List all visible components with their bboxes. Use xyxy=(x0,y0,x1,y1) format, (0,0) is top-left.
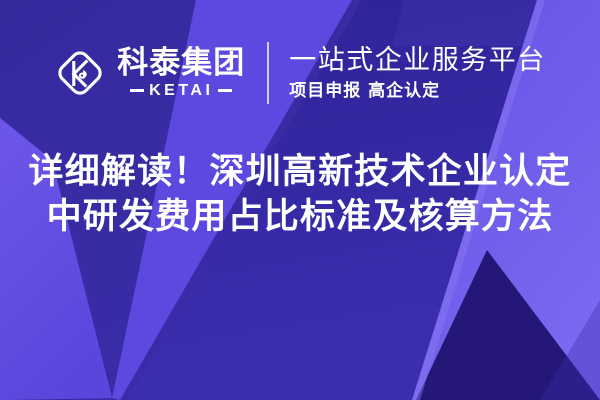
headline-line-2: 中研发费用占比标准及核算方法 xyxy=(0,195,600,240)
brand-lockup: 科泰集团 KETAI xyxy=(54,47,245,99)
ketai-logo-icon xyxy=(54,47,106,99)
brand-name-en-row: KETAI xyxy=(130,83,232,99)
tagline-main: 一站式企业服务平台 xyxy=(289,45,546,77)
headline-block: 详细解读！深圳高新技术企业认定 中研发费用占比标准及核算方法 xyxy=(0,150,600,240)
brand-wordmark: 科泰集团 KETAI xyxy=(117,48,245,99)
brand-name-cn: 科泰集团 xyxy=(117,48,245,79)
tagline-sub: 项目申报 高企认定 xyxy=(289,80,546,102)
headline-line-1: 详细解读！深圳高新技术企业认定 xyxy=(0,150,600,195)
dash-left-icon xyxy=(130,89,144,92)
brand-name-en: KETAI xyxy=(149,83,213,99)
tagline-block: 一站式企业服务平台 项目申报 高企认定 xyxy=(289,45,546,102)
header-divider xyxy=(267,42,269,104)
promo-banner: 科泰集团 KETAI 一站式企业服务平台 项目申报 高企认定 详细解读！深圳高新… xyxy=(0,0,600,400)
banner-header: 科泰集团 KETAI 一站式企业服务平台 项目申报 高企认定 xyxy=(0,36,600,110)
dash-right-icon xyxy=(218,89,232,92)
